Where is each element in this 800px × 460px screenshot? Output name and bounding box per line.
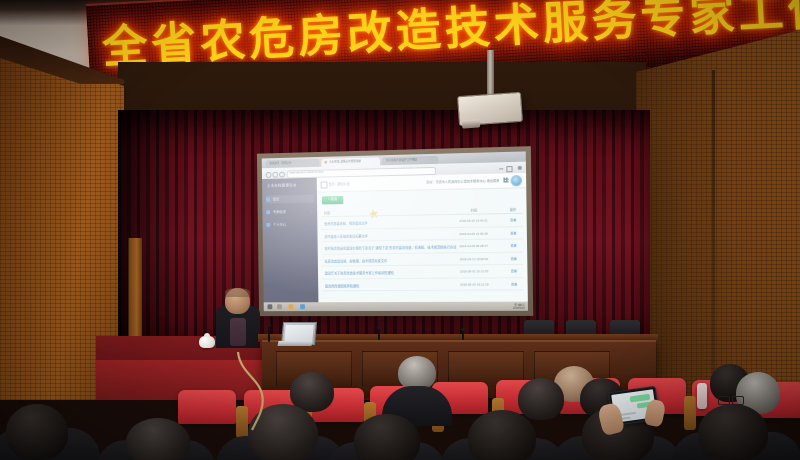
- cable: [0, 0, 800, 460]
- conference-hall-photo: 全省农危房改造技术服务专家工作培训会 新闻资讯 - 管理后台 土木在线_建筑后台…: [0, 0, 800, 460]
